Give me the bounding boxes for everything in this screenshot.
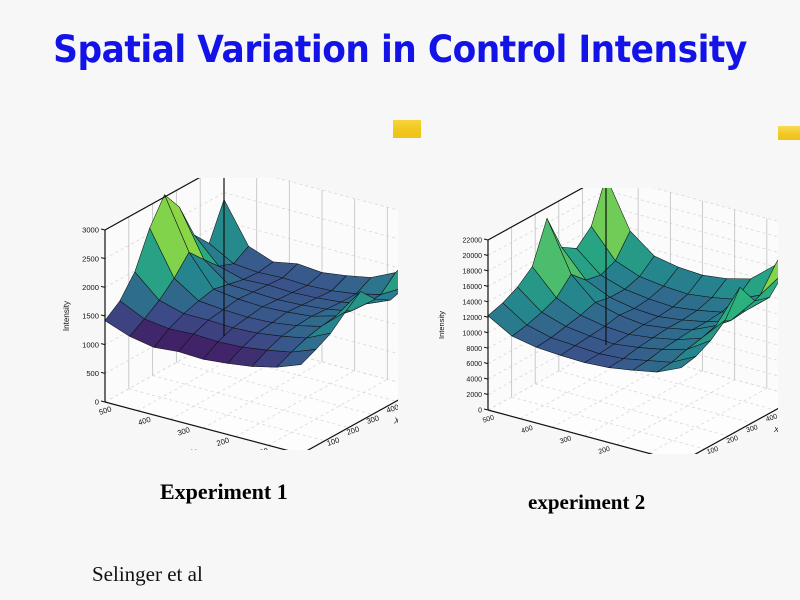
svg-text:300: 300 <box>176 425 191 437</box>
slide-title: Spatial Variation in Control Intensity <box>28 28 772 71</box>
svg-text:1500: 1500 <box>82 312 99 321</box>
yellow-fragment-center-icon <box>393 120 421 138</box>
svg-text:0: 0 <box>478 408 482 415</box>
surface-plot-experiment-1: 0500100015002000250030005004003002001000… <box>58 178 398 450</box>
svg-text:0: 0 <box>306 449 313 450</box>
svg-text:100: 100 <box>255 446 270 450</box>
svg-text:500: 500 <box>482 414 495 424</box>
svg-text:1000: 1000 <box>82 340 99 349</box>
svg-text:2500: 2500 <box>82 254 99 263</box>
caption-experiment-2: experiment 2 <box>528 490 645 515</box>
svg-text:500: 500 <box>86 369 99 378</box>
svg-text:12000: 12000 <box>463 315 483 322</box>
yellow-fragment-right-icon <box>778 126 800 140</box>
slide-canvas: Spatial Variation in Control Intensity 0… <box>0 0 800 600</box>
svg-text:16000: 16000 <box>463 284 483 291</box>
svg-text:Intensity: Intensity <box>62 300 71 331</box>
svg-text:500: 500 <box>98 404 113 416</box>
svg-text:0: 0 <box>95 398 99 407</box>
svg-text:300: 300 <box>559 435 572 445</box>
svg-text:Y: Y <box>190 448 196 450</box>
svg-text:400: 400 <box>520 425 533 435</box>
svg-text:400: 400 <box>137 415 152 427</box>
svg-text:X: X <box>393 417 398 426</box>
svg-text:8000: 8000 <box>466 346 482 353</box>
svg-text:200: 200 <box>598 446 611 454</box>
svg-text:6000: 6000 <box>466 361 482 368</box>
credit-text: Selinger et al <box>92 562 203 587</box>
caption-experiment-1: Experiment 1 <box>160 479 288 505</box>
svg-text:2000: 2000 <box>82 283 99 292</box>
svg-text:14000: 14000 <box>463 299 483 306</box>
svg-text:10000: 10000 <box>463 330 483 337</box>
svg-text:18000: 18000 <box>463 269 483 276</box>
svg-text:Intensity: Intensity <box>438 311 446 339</box>
svg-text:4000: 4000 <box>466 377 482 384</box>
svg-text:200: 200 <box>215 436 230 448</box>
svg-text:2000: 2000 <box>466 392 482 399</box>
svg-text:X: X <box>773 425 778 434</box>
surface-plot-experiment-2: 0200040006000800010000120001400016000180… <box>438 188 778 454</box>
svg-text:3000: 3000 <box>82 226 99 235</box>
svg-text:20000: 20000 <box>463 253 483 260</box>
svg-text:22000: 22000 <box>463 238 483 245</box>
